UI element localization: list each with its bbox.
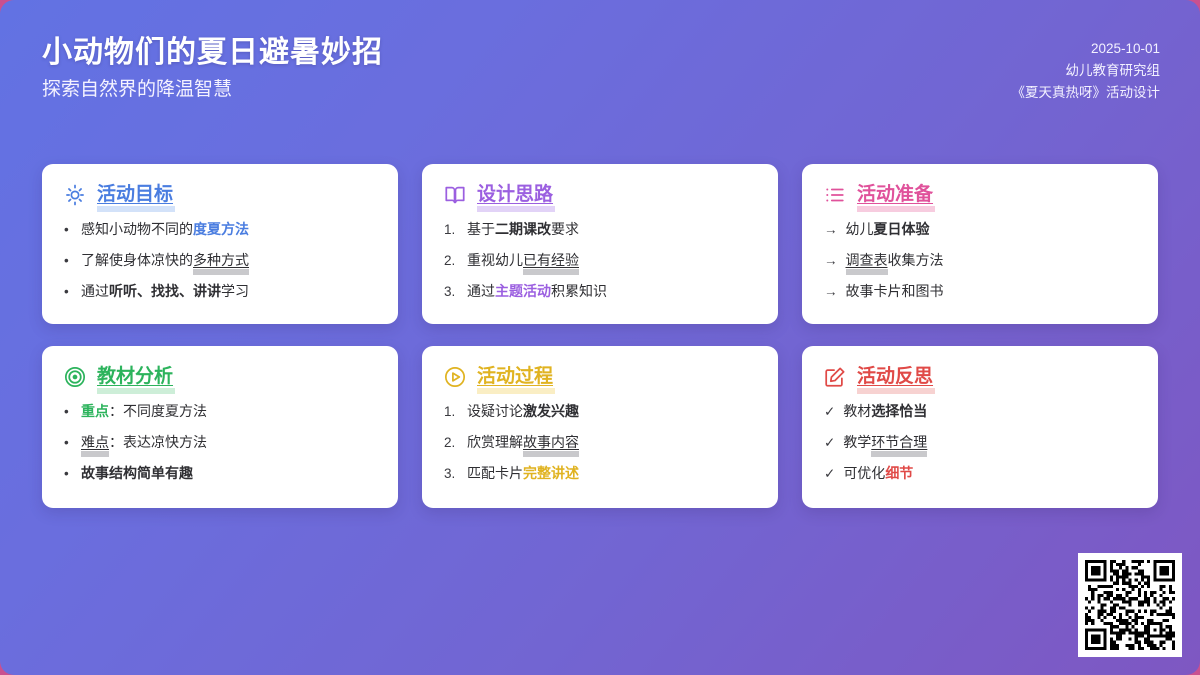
card-item-list: •感知小动物不同的度夏方法•了解使身体凉快的多种方式•通过听听、找找、讲讲学习 bbox=[64, 220, 376, 302]
list-item: 3.通过主题活动积累知识 bbox=[444, 282, 756, 301]
list-marker-bullet: • bbox=[64, 283, 73, 301]
card-activity-process: 活动过程1.设疑讨论激发兴趣2.欣赏理解故事内容3.匹配卡片完整讲述 bbox=[422, 346, 778, 508]
list-item: 1.基于二期课改要求 bbox=[444, 220, 756, 239]
list-item-text: 匹配卡片完整讲述 bbox=[467, 464, 579, 483]
list-item-text: 通过主题活动积累知识 bbox=[467, 282, 607, 301]
text-part: 积累知识 bbox=[551, 283, 607, 299]
list-item: →调查表收集方法 bbox=[824, 251, 1136, 270]
text-part: 完整讲述 bbox=[523, 465, 579, 481]
text-part: 基于 bbox=[467, 221, 495, 237]
list-item: 2.欣赏理解故事内容 bbox=[444, 433, 756, 452]
text-part: 故事卡片和图书 bbox=[846, 283, 944, 299]
list-item-text: 基于二期课改要求 bbox=[467, 220, 579, 239]
list-item: ✓可优化细节 bbox=[824, 464, 1136, 483]
list-marker-number: 1. bbox=[444, 221, 459, 239]
card-title: 教材分析 bbox=[97, 367, 173, 388]
text-part: 教学 bbox=[843, 434, 871, 450]
text-part: 设疑讨论 bbox=[467, 403, 523, 419]
list-marker-number: 2. bbox=[444, 434, 459, 452]
list-item-text: 重视幼儿已有经验 bbox=[467, 251, 579, 270]
list-item: ✓教材选择恰当 bbox=[824, 402, 1136, 421]
list-item-text: 设疑讨论激发兴趣 bbox=[467, 402, 579, 421]
card-title: 活动过程 bbox=[477, 367, 553, 388]
target-icon bbox=[64, 366, 86, 388]
card-item-list: •重点：不同度夏方法•难点：表达凉快方法•故事结构简单有趣 bbox=[64, 402, 376, 484]
card-item-list: 1.基于二期课改要求2.重视幼儿已有经验3.通过主题活动积累知识 bbox=[444, 220, 756, 302]
text-part: 夏日体验 bbox=[874, 221, 930, 237]
slide-header: 小动物们的夏日避暑妙招 探索自然界的降温智慧 2025-10-01 幼儿教育研究… bbox=[0, 0, 1200, 140]
book-icon bbox=[444, 184, 466, 206]
header-meta: 2025-10-01 幼儿教育研究组 《夏天真热呀》活动设计 bbox=[1012, 34, 1161, 104]
list-item: 2.重视幼儿已有经验 bbox=[444, 251, 756, 270]
list-item-text: 调查表收集方法 bbox=[846, 251, 944, 270]
card-activity-preparation: 活动准备→幼儿夏日体验→调查表收集方法→故事卡片和图书 bbox=[802, 164, 1158, 324]
text-part: 感知小动物不同的 bbox=[81, 221, 193, 237]
card-design-thinking: 设计思路1.基于二期课改要求2.重视幼儿已有经验3.通过主题活动积累知识 bbox=[422, 164, 778, 324]
list-marker-number: 3. bbox=[444, 283, 459, 301]
text-part: 要求 bbox=[551, 221, 579, 237]
text-part: 调查表 bbox=[846, 252, 888, 268]
text-part: 细节 bbox=[885, 465, 913, 481]
card-header: 活动准备 bbox=[824, 184, 1136, 206]
card-item-list: ✓教材选择恰当✓教学环节合理✓可优化细节 bbox=[824, 402, 1136, 484]
text-part: 重点 bbox=[81, 403, 109, 419]
list-item: •难点：表达凉快方法 bbox=[64, 433, 376, 452]
text-part: 难点 bbox=[81, 434, 109, 450]
list-item-text: 幼儿夏日体验 bbox=[846, 220, 930, 239]
list-item-text: 难点：表达凉快方法 bbox=[81, 433, 207, 452]
list-marker-arrow: → bbox=[824, 283, 838, 301]
card-title: 设计思路 bbox=[477, 185, 553, 206]
list-item-text: 故事卡片和图书 bbox=[846, 282, 944, 301]
text-part: 欣赏理解 bbox=[467, 434, 523, 450]
qr-code-icon bbox=[1085, 560, 1175, 650]
text-part: ：表达凉快方法 bbox=[109, 434, 207, 450]
text-part: 教材 bbox=[843, 403, 871, 419]
text-part: 主题活动 bbox=[495, 283, 551, 299]
list-marker-check: ✓ bbox=[824, 434, 835, 452]
list-item-text: 可优化细节 bbox=[843, 464, 913, 483]
page-subtitle: 探索自然界的降温智慧 bbox=[42, 78, 383, 103]
list-item: →故事卡片和图书 bbox=[824, 282, 1136, 301]
card-activity-goals: 活动目标•感知小动物不同的度夏方法•了解使身体凉快的多种方式•通过听听、找找、讲… bbox=[42, 164, 398, 324]
list-item-text: 了解使身体凉快的多种方式 bbox=[81, 251, 249, 270]
list-item-text: 教材选择恰当 bbox=[843, 402, 927, 421]
text-part: 收集方法 bbox=[888, 252, 944, 268]
meta-date: 2025-10-01 bbox=[1012, 38, 1161, 60]
text-part: 匹配卡片 bbox=[467, 465, 523, 481]
list-item: →幼儿夏日体验 bbox=[824, 220, 1136, 239]
card-material-analysis: 教材分析•重点：不同度夏方法•难点：表达凉快方法•故事结构简单有趣 bbox=[42, 346, 398, 508]
list-item: 3.匹配卡片完整讲述 bbox=[444, 464, 756, 483]
list-marker-arrow: → bbox=[824, 252, 838, 270]
list-marker-check: ✓ bbox=[824, 403, 835, 421]
text-part: 幼儿 bbox=[846, 221, 874, 237]
text-part: 重视幼儿 bbox=[467, 252, 523, 268]
list-marker-number: 2. bbox=[444, 252, 459, 270]
page-title: 小动物们的夏日避暑妙招 bbox=[42, 34, 383, 72]
text-part: 已有经验 bbox=[523, 252, 579, 268]
text-part: ：不同度夏方法 bbox=[109, 403, 207, 419]
text-part: 环节合理 bbox=[871, 434, 927, 450]
list-marker-number: 3. bbox=[444, 465, 459, 483]
card-title: 活动目标 bbox=[97, 185, 173, 206]
sun-icon bbox=[64, 184, 86, 206]
card-header: 活动反思 bbox=[824, 366, 1136, 388]
text-part: 了解使身体凉快的 bbox=[81, 252, 193, 268]
card-item-list: 1.设疑讨论激发兴趣2.欣赏理解故事内容3.匹配卡片完整讲述 bbox=[444, 402, 756, 484]
card-header: 活动过程 bbox=[444, 366, 756, 388]
meta-org: 幼儿教育研究组 bbox=[1012, 60, 1161, 82]
list-marker-bullet: • bbox=[64, 252, 73, 270]
card-title: 活动准备 bbox=[857, 185, 933, 206]
text-part: 故事结构简单有趣 bbox=[81, 465, 193, 481]
text-part: 通过 bbox=[81, 283, 109, 299]
list-item: •了解使身体凉快的多种方式 bbox=[64, 251, 376, 270]
card-grid: 活动目标•感知小动物不同的度夏方法•了解使身体凉快的多种方式•通过听听、找找、讲… bbox=[42, 164, 1158, 508]
list-item: •通过听听、找找、讲讲学习 bbox=[64, 282, 376, 301]
text-part: 听听、找找、讲讲 bbox=[109, 283, 221, 299]
text-part: 多种方式 bbox=[193, 252, 249, 268]
meta-source: 《夏天真热呀》活动设计 bbox=[1012, 82, 1161, 104]
title-block: 小动物们的夏日避暑妙招 探索自然界的降温智慧 bbox=[42, 34, 383, 102]
list-marker-arrow: → bbox=[824, 221, 838, 239]
list-marker-check: ✓ bbox=[824, 465, 835, 483]
card-activity-reflection: 活动反思✓教材选择恰当✓教学环节合理✓可优化细节 bbox=[802, 346, 1158, 508]
text-part: 可优化 bbox=[843, 465, 885, 481]
list-marker-bullet: • bbox=[64, 403, 73, 421]
slide-root: 小动物们的夏日避暑妙招 探索自然界的降温智慧 2025-10-01 幼儿教育研究… bbox=[0, 0, 1200, 675]
list-marker-number: 1. bbox=[444, 403, 459, 421]
list-item-text: 故事结构简单有趣 bbox=[81, 464, 193, 483]
text-part: 度夏方法 bbox=[193, 221, 249, 237]
list-item: •重点：不同度夏方法 bbox=[64, 402, 376, 421]
card-header: 教材分析 bbox=[64, 366, 376, 388]
card-title: 活动反思 bbox=[857, 367, 933, 388]
qr-code-container[interactable] bbox=[1078, 553, 1182, 657]
edit-square-icon bbox=[824, 366, 846, 388]
list-item-text: 教学环节合理 bbox=[843, 433, 927, 452]
text-part: 学习 bbox=[221, 283, 249, 299]
text-part: 激发兴趣 bbox=[523, 403, 579, 419]
text-part: 选择恰当 bbox=[871, 403, 927, 419]
list-icon bbox=[824, 184, 846, 206]
list-item-text: 感知小动物不同的度夏方法 bbox=[81, 220, 249, 239]
list-item-text: 欣赏理解故事内容 bbox=[467, 433, 579, 452]
card-item-list: →幼儿夏日体验→调查表收集方法→故事卡片和图书 bbox=[824, 220, 1136, 302]
list-marker-bullet: • bbox=[64, 434, 73, 452]
list-marker-bullet: • bbox=[64, 465, 73, 483]
card-header: 设计思路 bbox=[444, 184, 756, 206]
play-circle-icon bbox=[444, 366, 466, 388]
list-item-text: 通过听听、找找、讲讲学习 bbox=[81, 282, 249, 301]
text-part: 二期课改 bbox=[495, 221, 551, 237]
list-item: ✓教学环节合理 bbox=[824, 433, 1136, 452]
list-item: •故事结构简单有趣 bbox=[64, 464, 376, 483]
card-header: 活动目标 bbox=[64, 184, 376, 206]
text-part: 通过 bbox=[467, 283, 495, 299]
text-part: 故事内容 bbox=[523, 434, 579, 450]
list-item: 1.设疑讨论激发兴趣 bbox=[444, 402, 756, 421]
list-item: •感知小动物不同的度夏方法 bbox=[64, 220, 376, 239]
list-marker-bullet: • bbox=[64, 221, 73, 239]
list-item-text: 重点：不同度夏方法 bbox=[81, 402, 207, 421]
